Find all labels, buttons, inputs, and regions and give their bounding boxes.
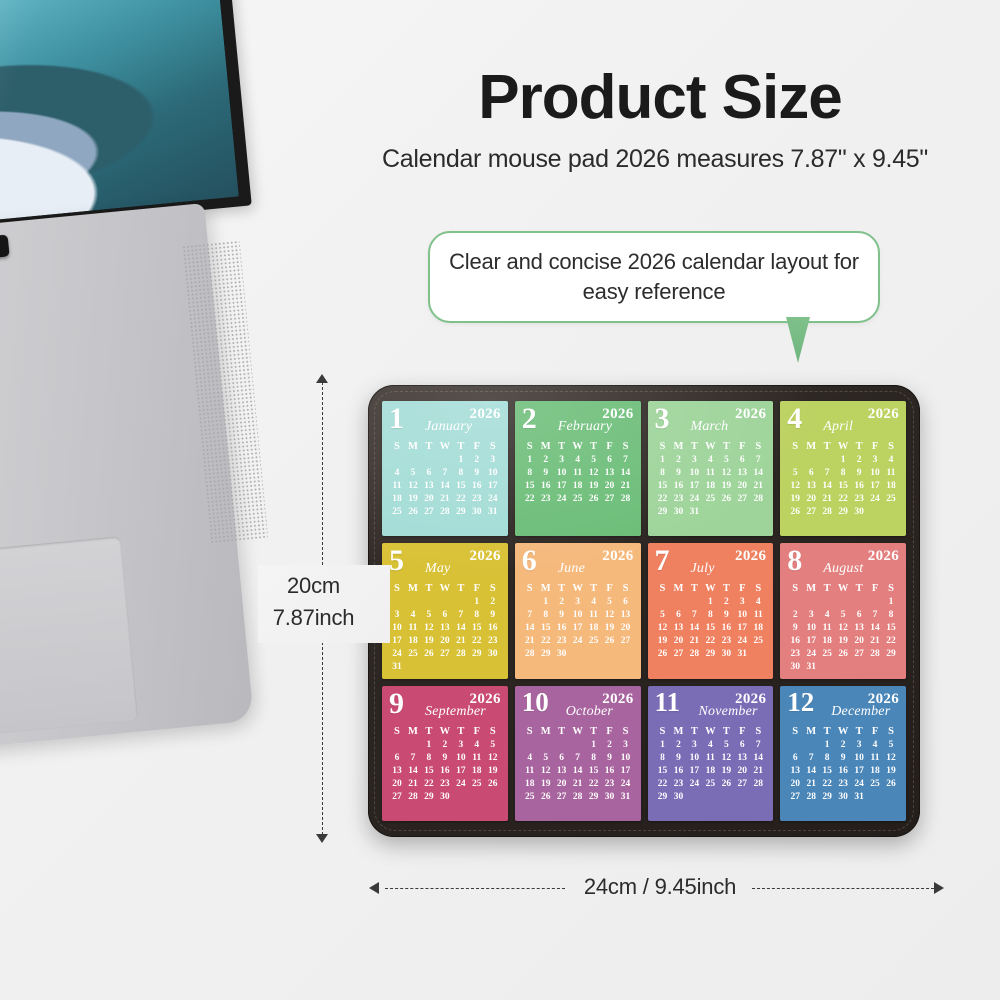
weekday-6: S <box>883 441 899 452</box>
day-cell: 6 <box>602 454 618 467</box>
day-cell: 17 <box>554 480 570 493</box>
weekday-6: S <box>750 583 766 594</box>
day-cell: 15 <box>819 765 835 778</box>
day-cell: 20 <box>554 778 570 791</box>
day-cell: 4 <box>389 467 405 480</box>
day-cell: 21 <box>750 480 766 493</box>
day-cell: 21 <box>750 765 766 778</box>
day-cell: 30 <box>554 648 570 661</box>
day-blank <box>421 454 437 467</box>
day-cell: 13 <box>803 480 819 493</box>
weekday-header-row: SMTWTFS <box>522 583 634 594</box>
day-blank <box>819 596 835 609</box>
weekday-5: F <box>469 583 485 594</box>
month-tile-march: 3March2026SMTWTFS12345678910111213141516… <box>648 401 774 536</box>
day-cell: 11 <box>819 622 835 635</box>
day-blank <box>787 454 803 467</box>
weekday-6: S <box>750 441 766 452</box>
day-number-grid: 1234567891011121314151617181920212223242… <box>522 596 634 661</box>
day-cell: 2 <box>787 609 803 622</box>
page-subtitle: Calendar mouse pad 2026 measures 7.87" x… <box>320 145 990 174</box>
key-power[interactable] <box>0 234 10 259</box>
day-cell: 9 <box>554 609 570 622</box>
day-cell: 5 <box>718 739 734 752</box>
day-cell: 1 <box>655 739 671 752</box>
day-cell: 19 <box>405 493 421 506</box>
day-cell: 6 <box>670 609 686 622</box>
day-cell: 14 <box>750 752 766 765</box>
day-cell: 8 <box>835 467 851 480</box>
day-cell: 25 <box>702 493 718 506</box>
day-cell: 17 <box>734 622 750 635</box>
day-cell: 14 <box>618 467 634 480</box>
day-cell: 3 <box>570 596 586 609</box>
day-cell: 23 <box>485 635 501 648</box>
weekday-header-row: SMTWTFS <box>655 583 767 594</box>
day-cell: 21 <box>867 635 883 648</box>
day-cell: 14 <box>686 622 702 635</box>
day-cell: 23 <box>437 778 453 791</box>
day-cell: 5 <box>787 467 803 480</box>
day-cell: 17 <box>686 480 702 493</box>
day-cell: 21 <box>570 778 586 791</box>
day-number-grid: 1234567891011121314151617181920212223242… <box>389 454 501 519</box>
month-year: 2026 <box>602 406 633 423</box>
day-cell: 19 <box>718 765 734 778</box>
day-cell: 1 <box>453 454 469 467</box>
day-cell: 3 <box>485 454 501 467</box>
day-cell: 15 <box>469 622 485 635</box>
day-cell: 24 <box>453 778 469 791</box>
day-cell: 17 <box>389 635 405 648</box>
day-cell: 26 <box>718 778 734 791</box>
day-cell: 16 <box>835 765 851 778</box>
product-size-infographic: ◂ F10 ◂) F11 ◂)) F12 –_ += delete P {[ <box>0 0 1000 1000</box>
weekday-0: S <box>787 726 803 737</box>
day-cell: 3 <box>554 454 570 467</box>
day-cell: 23 <box>835 778 851 791</box>
day-blank <box>421 596 437 609</box>
day-cell: 5 <box>883 739 899 752</box>
day-cell: 2 <box>718 596 734 609</box>
month-name: March <box>691 419 729 435</box>
day-blank <box>522 596 538 609</box>
day-cell: 8 <box>421 752 437 765</box>
day-cell: 21 <box>437 493 453 506</box>
month-year: 2026 <box>735 548 766 565</box>
day-number-grid: 1234567891011121314151617181920212223242… <box>787 739 899 804</box>
day-cell: 6 <box>554 752 570 765</box>
weekday-0: S <box>522 441 538 452</box>
day-cell: 29 <box>835 506 851 519</box>
day-cell: 20 <box>670 635 686 648</box>
day-cell: 17 <box>803 635 819 648</box>
day-cell: 8 <box>702 609 718 622</box>
day-cell: 25 <box>389 506 405 519</box>
day-blank <box>686 596 702 609</box>
day-cell: 1 <box>835 454 851 467</box>
weekday-0: S <box>389 441 405 452</box>
day-cell: 15 <box>655 480 671 493</box>
weekday-4: T <box>453 583 469 594</box>
day-cell: 20 <box>602 480 618 493</box>
day-cell: 16 <box>538 480 554 493</box>
day-cell: 22 <box>421 778 437 791</box>
day-cell: 21 <box>819 493 835 506</box>
month-number: 12 <box>787 689 814 716</box>
day-cell: 25 <box>883 493 899 506</box>
day-cell: 16 <box>602 765 618 778</box>
day-cell: 23 <box>469 493 485 506</box>
month-header: 3March2026 <box>655 406 767 440</box>
day-cell: 28 <box>570 791 586 804</box>
day-cell: 27 <box>421 506 437 519</box>
day-cell: 17 <box>485 480 501 493</box>
day-cell: 20 <box>421 493 437 506</box>
day-cell: 28 <box>750 493 766 506</box>
weekday-4: T <box>718 726 734 737</box>
weekday-6: S <box>485 583 501 594</box>
day-cell: 19 <box>718 480 734 493</box>
day-cell: 26 <box>485 778 501 791</box>
weekday-3: W <box>835 583 851 594</box>
day-cell: 29 <box>655 506 671 519</box>
day-cell: 30 <box>787 661 803 674</box>
day-cell: 4 <box>819 609 835 622</box>
day-cell: 15 <box>453 480 469 493</box>
day-blank <box>437 454 453 467</box>
day-cell: 24 <box>851 778 867 791</box>
day-cell: 6 <box>734 739 750 752</box>
month-tile-august: 8August2026SMTWTFS1234567891011121314151… <box>780 543 906 678</box>
month-name: July <box>691 561 715 577</box>
day-cell: 7 <box>750 454 766 467</box>
day-cell: 19 <box>586 480 602 493</box>
day-cell: 3 <box>686 454 702 467</box>
weekday-3: W <box>570 726 586 737</box>
day-cell: 5 <box>421 609 437 622</box>
day-cell: 9 <box>670 752 686 765</box>
day-cell: 27 <box>554 791 570 804</box>
weekday-2: T <box>686 726 702 737</box>
weekday-5: F <box>867 726 883 737</box>
laptop-lid <box>0 0 252 244</box>
day-cell: 28 <box>750 778 766 791</box>
month-year: 2026 <box>602 548 633 565</box>
day-cell: 29 <box>469 648 485 661</box>
weekday-1: M <box>670 583 686 594</box>
day-cell: 11 <box>702 752 718 765</box>
day-cell: 16 <box>554 622 570 635</box>
weekday-3: W <box>437 726 453 737</box>
month-year: 2026 <box>868 548 899 565</box>
weekday-header-row: SMTWTFS <box>787 726 899 737</box>
day-cell: 3 <box>686 739 702 752</box>
day-cell: 24 <box>570 635 586 648</box>
day-cell: 18 <box>867 765 883 778</box>
month-tile-may: 5May2026SMTWTFS1234567891011121314151617… <box>382 543 508 678</box>
day-cell: 31 <box>485 506 501 519</box>
day-cell: 6 <box>421 467 437 480</box>
day-cell: 19 <box>835 635 851 648</box>
day-cell: 30 <box>670 506 686 519</box>
day-cell: 29 <box>883 648 899 661</box>
day-cell: 18 <box>702 480 718 493</box>
day-cell: 1 <box>421 739 437 752</box>
weekday-4: T <box>586 726 602 737</box>
calendar-grid: 1January2026SMTWTFS123456789101112131415… <box>382 401 906 821</box>
day-cell: 29 <box>655 791 671 804</box>
day-cell: 5 <box>602 596 618 609</box>
day-cell: 15 <box>586 765 602 778</box>
day-cell: 28 <box>522 648 538 661</box>
day-cell: 21 <box>453 635 469 648</box>
day-cell: 25 <box>570 493 586 506</box>
month-header: 1January2026 <box>389 406 501 440</box>
day-cell: 2 <box>538 454 554 467</box>
day-cell: 12 <box>835 622 851 635</box>
day-cell: 18 <box>586 622 602 635</box>
day-cell: 5 <box>835 609 851 622</box>
day-cell: 11 <box>405 622 421 635</box>
day-cell: 14 <box>453 622 469 635</box>
weekday-2: T <box>686 441 702 452</box>
day-cell: 11 <box>867 752 883 765</box>
day-cell: 26 <box>655 648 671 661</box>
day-cell: 8 <box>819 752 835 765</box>
month-year: 2026 <box>602 691 633 708</box>
day-cell: 16 <box>718 622 734 635</box>
day-cell: 17 <box>618 765 634 778</box>
day-cell: 13 <box>389 765 405 778</box>
day-cell: 20 <box>389 778 405 791</box>
day-cell: 22 <box>469 635 485 648</box>
weekday-2: T <box>421 441 437 452</box>
day-cell: 4 <box>570 454 586 467</box>
weekday-5: F <box>469 726 485 737</box>
day-cell: 13 <box>554 765 570 778</box>
day-cell: 12 <box>602 609 618 622</box>
weekday-3: W <box>437 583 453 594</box>
day-cell: 31 <box>389 661 405 674</box>
day-cell: 24 <box>485 493 501 506</box>
day-blank <box>522 739 538 752</box>
day-cell: 9 <box>835 752 851 765</box>
weekday-4: T <box>453 726 469 737</box>
day-cell: 27 <box>389 791 405 804</box>
day-cell: 23 <box>538 493 554 506</box>
weekday-6: S <box>883 726 899 737</box>
callout-text: Clear and concise 2026 calendar layout f… <box>430 247 878 306</box>
width-dimension-line-left <box>385 888 565 889</box>
laptop-photo: ◂ F10 ◂) F11 ◂)) F12 –_ += delete P {[ <box>0 0 260 780</box>
day-number-grid: 1234567891011121314151617181920212223242… <box>522 739 634 804</box>
day-cell: 5 <box>405 467 421 480</box>
day-cell: 18 <box>819 635 835 648</box>
month-number: 9 <box>389 689 404 719</box>
month-name: April <box>823 419 853 435</box>
weekday-5: F <box>602 583 618 594</box>
month-header: 4April2026 <box>787 406 899 440</box>
weekday-4: T <box>851 583 867 594</box>
weekday-6: S <box>883 583 899 594</box>
day-cell: 8 <box>453 467 469 480</box>
month-year: 2026 <box>735 406 766 423</box>
day-cell: 18 <box>405 635 421 648</box>
month-year: 2026 <box>868 406 899 423</box>
weekday-2: T <box>554 441 570 452</box>
weekday-1: M <box>405 583 421 594</box>
day-cell: 4 <box>750 596 766 609</box>
day-cell: 23 <box>554 635 570 648</box>
weekday-6: S <box>750 726 766 737</box>
weekday-3: W <box>702 441 718 452</box>
day-cell: 20 <box>437 635 453 648</box>
day-cell: 1 <box>469 596 485 609</box>
day-cell: 6 <box>787 752 803 765</box>
day-blank <box>803 596 819 609</box>
day-cell: 18 <box>389 493 405 506</box>
callout-bubble: Clear and concise 2026 calendar layout f… <box>428 231 880 323</box>
day-cell: 6 <box>437 609 453 622</box>
day-cell: 27 <box>437 648 453 661</box>
day-cell: 15 <box>655 765 671 778</box>
weekday-3: W <box>702 583 718 594</box>
weekday-2: T <box>686 583 702 594</box>
day-cell: 2 <box>670 454 686 467</box>
month-tile-november: 11November2026SMTWTFS1234567891011121314… <box>648 686 774 821</box>
day-cell: 20 <box>734 480 750 493</box>
day-cell: 15 <box>421 765 437 778</box>
day-cell: 12 <box>718 467 734 480</box>
day-cell: 15 <box>522 480 538 493</box>
day-cell: 22 <box>586 778 602 791</box>
weekday-5: F <box>469 441 485 452</box>
callout-tail-icon <box>786 317 810 363</box>
day-cell: 17 <box>570 622 586 635</box>
weekday-4: T <box>718 441 734 452</box>
day-cell: 18 <box>469 765 485 778</box>
weekday-4: T <box>851 726 867 737</box>
weekday-3: W <box>570 441 586 452</box>
day-cell: 29 <box>453 506 469 519</box>
month-number: 11 <box>655 689 681 716</box>
day-cell: 11 <box>389 480 405 493</box>
day-cell: 23 <box>787 648 803 661</box>
day-cell: 11 <box>469 752 485 765</box>
day-cell: 28 <box>618 493 634 506</box>
day-cell: 23 <box>670 778 686 791</box>
day-cell: 10 <box>686 752 702 765</box>
month-number: 6 <box>522 546 537 576</box>
day-cell: 17 <box>867 480 883 493</box>
day-number-grid: 1234567891011121314151617181920212223242… <box>389 739 501 804</box>
day-cell: 16 <box>787 635 803 648</box>
day-cell: 28 <box>867 648 883 661</box>
day-cell: 15 <box>702 622 718 635</box>
day-cell: 30 <box>469 506 485 519</box>
day-cell: 25 <box>586 635 602 648</box>
month-year: 2026 <box>735 691 766 708</box>
day-cell: 28 <box>803 791 819 804</box>
month-number: 5 <box>389 546 404 576</box>
day-cell: 9 <box>851 467 867 480</box>
day-cell: 24 <box>389 648 405 661</box>
day-cell: 1 <box>538 596 554 609</box>
day-cell: 29 <box>819 791 835 804</box>
day-cell: 25 <box>867 778 883 791</box>
day-blank <box>570 739 586 752</box>
day-cell: 12 <box>883 752 899 765</box>
weekday-header-row: SMTWTFS <box>522 726 634 737</box>
day-cell: 13 <box>670 622 686 635</box>
day-cell: 3 <box>389 609 405 622</box>
day-cell: 11 <box>586 609 602 622</box>
day-cell: 1 <box>655 454 671 467</box>
day-blank <box>453 596 469 609</box>
day-cell: 27 <box>618 635 634 648</box>
weekday-4: T <box>586 441 602 452</box>
day-cell: 3 <box>734 596 750 609</box>
weekday-2: T <box>554 726 570 737</box>
day-cell: 29 <box>702 648 718 661</box>
day-cell: 19 <box>655 635 671 648</box>
weekday-5: F <box>867 441 883 452</box>
day-cell: 31 <box>851 791 867 804</box>
day-blank <box>819 454 835 467</box>
day-number-grid: 1234567891011121314151617181920212223242… <box>655 739 767 804</box>
day-number-grid: 1234567891011121314151617181920212223242… <box>655 454 767 519</box>
day-cell: 26 <box>538 791 554 804</box>
day-number-grid: 1234567891011121314151617181920212223242… <box>522 454 634 506</box>
weekday-1: M <box>538 441 554 452</box>
day-cell: 25 <box>522 791 538 804</box>
day-cell: 29 <box>538 648 554 661</box>
day-cell: 8 <box>883 609 899 622</box>
day-cell: 24 <box>686 778 702 791</box>
width-arrow-left-icon <box>369 882 379 894</box>
day-cell: 3 <box>867 454 883 467</box>
day-cell: 2 <box>835 739 851 752</box>
day-cell: 8 <box>469 609 485 622</box>
day-cell: 14 <box>522 622 538 635</box>
day-blank <box>389 454 405 467</box>
day-cell: 27 <box>734 778 750 791</box>
day-cell: 16 <box>469 480 485 493</box>
day-cell: 3 <box>618 739 634 752</box>
day-cell: 7 <box>803 752 819 765</box>
day-cell: 10 <box>867 467 883 480</box>
mouse-pad: 1January2026SMTWTFS123456789101112131415… <box>368 385 920 837</box>
day-cell: 31 <box>734 648 750 661</box>
day-cell: 28 <box>405 791 421 804</box>
day-cell: 10 <box>453 752 469 765</box>
day-cell: 28 <box>686 648 702 661</box>
weekday-5: F <box>734 583 750 594</box>
day-blank <box>867 596 883 609</box>
day-cell: 17 <box>453 765 469 778</box>
month-number: 7 <box>655 546 670 576</box>
day-cell: 19 <box>883 765 899 778</box>
day-number-grid: 1234567891011121314151617181920212223242… <box>389 596 501 674</box>
day-cell: 30 <box>851 506 867 519</box>
month-header: 7July2026 <box>655 548 767 582</box>
month-number: 10 <box>522 689 549 716</box>
day-cell: 8 <box>522 467 538 480</box>
day-cell: 12 <box>421 622 437 635</box>
day-cell: 8 <box>655 752 671 765</box>
day-cell: 22 <box>883 635 899 648</box>
